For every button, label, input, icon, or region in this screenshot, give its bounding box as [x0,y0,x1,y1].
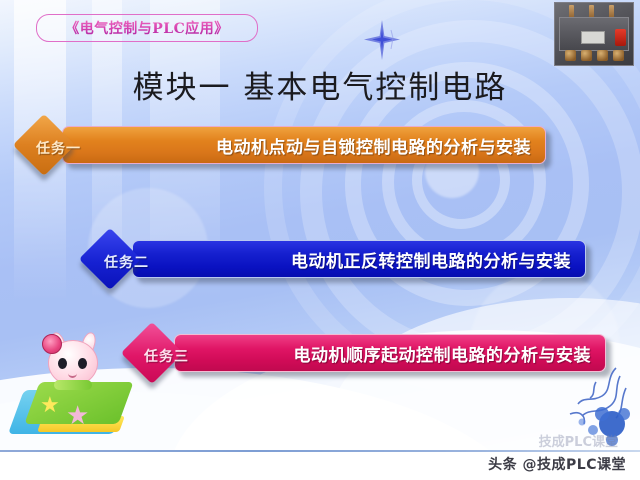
course-title-badge: 《电气控制与PLC应用》 [36,14,258,42]
course-title-text: 《电气控制与PLC应用》 [65,18,229,38]
slide-canvas: 《电气控制与PLC应用》 模块一 基本电气控制电路 电动机点动与自锁控制电路的分… [0,0,640,480]
thermal-overload-relay-photo [554,2,634,66]
star-icon: ★ [66,402,89,428]
task-title-2: 电动机正反转控制电路的分析与安装 [291,247,571,272]
task-title-3: 电动机顺序起动控制电路的分析与安装 [294,341,592,366]
task-bar-2[interactable]: 电动机正反转控制电路的分析与安装 [132,240,586,278]
task-bar-1[interactable]: 电动机点动与自锁控制电路的分析与安装 [62,126,546,164]
bunny-eye-icon [58,358,67,369]
sparkle-star-icon [362,18,402,62]
task-badge-label-2: 任务二 [104,252,149,272]
bunny-on-book-mascot: ★ ★ [10,330,132,450]
flower-icon [42,334,62,354]
watermark-text: 头条 @技成PLC课堂 [488,454,626,474]
bunny-eye-icon [78,358,87,369]
watermark-ghost-text: 技成PLC课堂 [539,431,618,450]
task-badge-label-3: 任务三 [144,346,189,366]
task-title-1: 电动机点动与自锁控制电路的分析与安装 [216,133,531,158]
star-icon: ★ [40,394,60,416]
bunny-scarf-icon [54,380,92,390]
footer-divider [0,450,640,452]
task-badge-label-1: 任务一 [36,138,81,158]
task-bar-3[interactable]: 电动机顺序起动控制电路的分析与安装 [174,334,606,372]
page-title: 模块一 基本电气控制电路 [0,62,640,107]
